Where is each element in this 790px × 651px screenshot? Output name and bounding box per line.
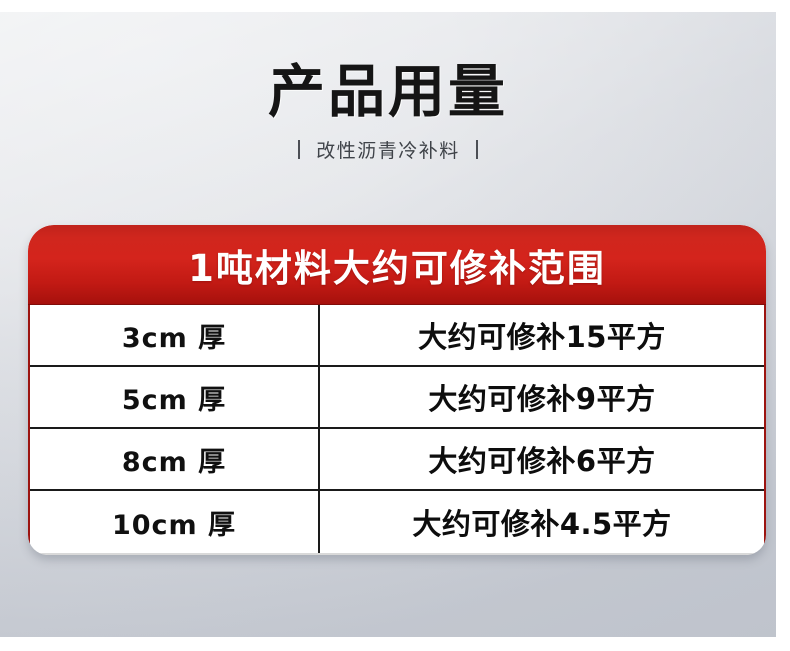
table-row: 8cm 厚 大约可修补6平方	[30, 429, 764, 491]
product-usage-infographic: 产品用量 改性沥青冷补料 1吨材料大约可修补范围 3cm 厚 大约可修补15平方	[0, 0, 790, 651]
page-title: 产品用量	[0, 62, 776, 122]
area-value: 大约可修补6平方	[428, 438, 655, 480]
table-cell-area: 大约可修补15平方	[320, 305, 764, 365]
table-cell-thickness: 10cm 厚	[30, 491, 320, 553]
table-cell-area: 大约可修补4.5平方	[320, 491, 764, 553]
tick-right-icon	[476, 140, 478, 159]
table-cell-area: 大约可修补9平方	[320, 367, 764, 427]
table-cell-thickness: 8cm 厚	[30, 429, 320, 489]
tick-left-icon	[298, 140, 300, 159]
area-value: 大约可修补4.5平方	[412, 501, 671, 543]
thickness-value: 8cm 厚	[122, 440, 226, 479]
page-subtitle: 改性沥青冷补料	[316, 136, 460, 163]
usage-table-card: 1吨材料大约可修补范围 3cm 厚 大约可修补15平方 5cm 厚 大约可修补9…	[28, 225, 766, 555]
table-cell-thickness: 3cm 厚	[30, 305, 320, 365]
usage-table-banner: 1吨材料大约可修补范围	[28, 225, 766, 305]
thickness-value: 3cm 厚	[122, 316, 226, 355]
subtitle-row: 改性沥青冷补料	[0, 136, 776, 163]
area-value: 大约可修补15平方	[418, 314, 666, 356]
usage-table: 3cm 厚 大约可修补15平方 5cm 厚 大约可修补9平方 8cm 厚	[28, 305, 766, 555]
table-cell-thickness: 5cm 厚	[30, 367, 320, 427]
table-row: 3cm 厚 大约可修补15平方	[30, 305, 764, 367]
table-row: 10cm 厚 大约可修补4.5平方	[30, 491, 764, 553]
thickness-value: 5cm 厚	[122, 378, 226, 417]
heading-block: 产品用量 改性沥青冷补料	[0, 62, 776, 163]
table-row: 5cm 厚 大约可修补9平方	[30, 367, 764, 429]
table-cell-area: 大约可修补6平方	[320, 429, 764, 489]
usage-table-banner-title: 1吨材料大约可修补范围	[188, 238, 606, 292]
area-value: 大约可修补9平方	[428, 376, 655, 418]
thickness-value: 10cm 厚	[112, 503, 236, 542]
